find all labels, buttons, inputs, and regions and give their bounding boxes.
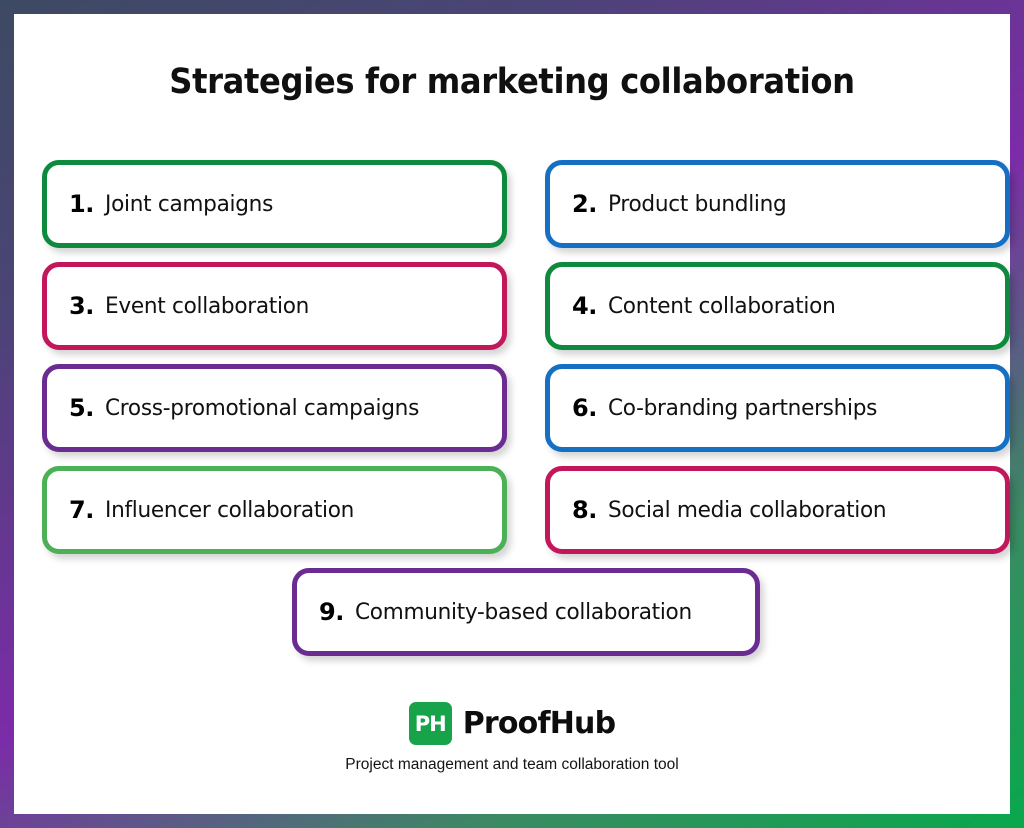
card-row-1: 1. Joint campaigns 2. Product bundling (42, 160, 1010, 248)
card-row-4: 7. Influencer collaboration 8. Social me… (42, 466, 1010, 554)
strategy-card-grid: 1. Joint campaigns 2. Product bundling 3… (42, 160, 1010, 670)
card-row-2: 3. Event collaboration 4. Content collab… (42, 262, 1010, 350)
strategy-card-1-label: Joint campaigns (105, 191, 273, 217)
strategy-card-7[interactable]: 7. Influencer collaboration (42, 466, 507, 554)
strategy-card-1[interactable]: 1. Joint campaigns (42, 160, 507, 248)
infographic-canvas: Strategies for marketing collaboration 1… (14, 14, 1010, 814)
strategy-card-7-number: 7. (69, 496, 94, 524)
footer-branding: PH ProofHub Project management and team … (14, 702, 1010, 774)
brand-lockup: PH ProofHub (409, 702, 616, 745)
strategy-card-6-number: 6. (572, 394, 597, 422)
strategy-card-8-number: 8. (572, 496, 597, 524)
card-row-3: 5. Cross-promotional campaigns 6. Co-bra… (42, 364, 1010, 452)
strategy-card-5[interactable]: 5. Cross-promotional campaigns (42, 364, 507, 452)
strategy-card-1-number: 1. (69, 190, 94, 218)
strategy-card-8[interactable]: 8. Social media collaboration (545, 466, 1010, 554)
card-row-5: 9. Community-based collaboration (42, 568, 1010, 656)
strategy-card-9-label: Community-based collaboration (355, 599, 692, 625)
strategy-card-5-number: 5. (69, 394, 94, 422)
strategy-card-8-label: Social media collaboration (608, 497, 886, 523)
strategy-card-3-number: 3. (69, 292, 94, 320)
strategy-card-9-number: 9. (319, 598, 344, 626)
strategy-card-2-number: 2. (572, 190, 597, 218)
brand-tagline: Project management and team collaboratio… (345, 756, 678, 774)
infographic-frame: Strategies for marketing collaboration 1… (0, 0, 1024, 828)
strategy-card-3[interactable]: 3. Event collaboration (42, 262, 507, 350)
strategy-card-6-label: Co-branding partnerships (608, 395, 877, 421)
strategy-card-9[interactable]: 9. Community-based collaboration (292, 568, 760, 656)
strategy-card-4-number: 4. (572, 292, 597, 320)
strategy-card-3-label: Event collaboration (105, 293, 309, 319)
strategy-card-4-label: Content collaboration (608, 293, 835, 319)
page-title: Strategies for marketing collaboration (54, 62, 970, 102)
proofhub-logo-icon: PH (409, 702, 452, 745)
strategy-card-6[interactable]: 6. Co-branding partnerships (545, 364, 1010, 452)
strategy-card-7-label: Influencer collaboration (105, 497, 354, 523)
strategy-card-4[interactable]: 4. Content collaboration (545, 262, 1010, 350)
strategy-card-2[interactable]: 2. Product bundling (545, 160, 1010, 248)
brand-name: ProofHub (463, 706, 616, 741)
strategy-card-5-label: Cross-promotional campaigns (105, 395, 419, 421)
strategy-card-2-label: Product bundling (608, 191, 786, 217)
